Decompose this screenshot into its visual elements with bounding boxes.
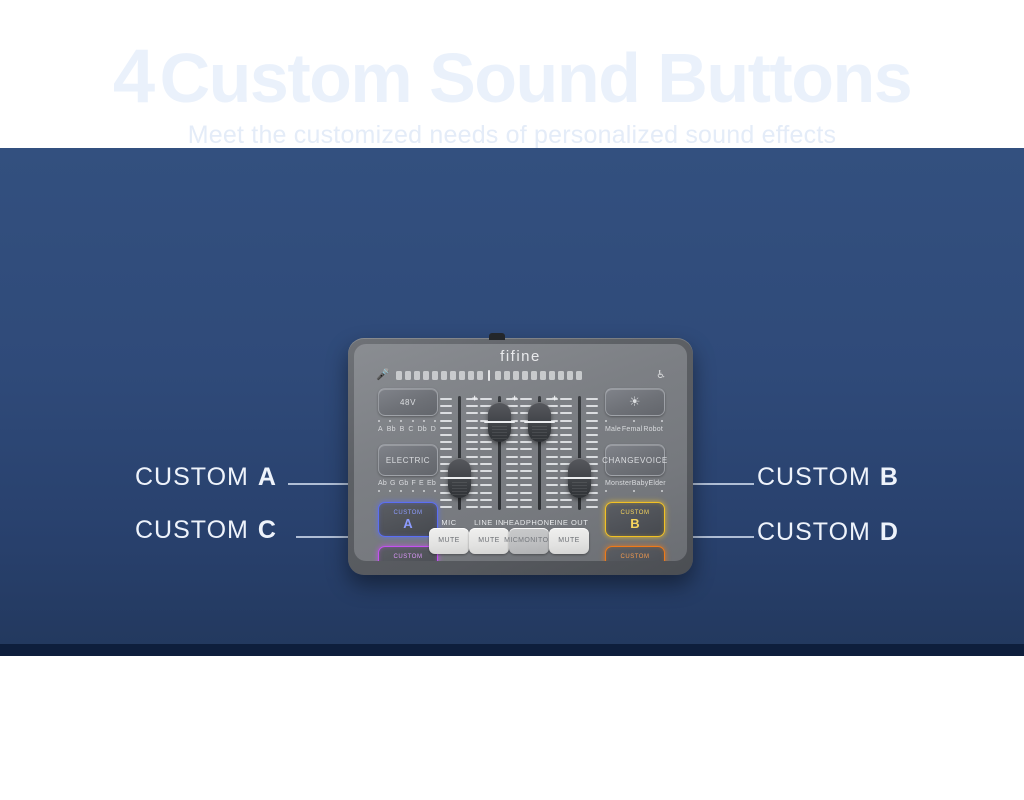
fader-knob[interactable] xyxy=(488,402,511,442)
scale-tick xyxy=(586,441,598,443)
note-label: B xyxy=(400,426,405,433)
scale-tick xyxy=(586,434,598,436)
led-segment xyxy=(396,371,402,380)
scale-tick xyxy=(506,470,518,472)
indicator-dot xyxy=(389,420,391,422)
scale-tick xyxy=(546,456,558,458)
scale-tick xyxy=(480,456,492,458)
scale-tick xyxy=(546,492,558,494)
scale-tick xyxy=(560,405,572,407)
scale-tick xyxy=(560,412,572,414)
scale-tick xyxy=(440,398,452,400)
scale-tick xyxy=(586,506,598,508)
scale-tick xyxy=(546,463,558,465)
led-segment xyxy=(540,371,546,380)
brand-logo: fifine xyxy=(354,348,687,365)
scale-tick xyxy=(560,434,572,436)
knob-ridge xyxy=(572,485,587,486)
microphone-icon: 🎤 xyxy=(376,369,390,381)
fader-knob[interactable] xyxy=(448,458,471,498)
note-label: G xyxy=(390,480,396,487)
scale-tick xyxy=(506,477,518,479)
led-segment xyxy=(459,371,465,380)
custom-letter: A xyxy=(403,517,412,530)
voice-label: Robot xyxy=(643,426,663,433)
knob-ridge xyxy=(492,426,507,427)
fader-knob[interactable] xyxy=(568,458,591,498)
knob-ridge xyxy=(532,429,547,430)
custom-caption: CUSTOM xyxy=(394,510,423,516)
page-subtitle: Meet the customized needs of personalize… xyxy=(0,120,1024,150)
scale-tick xyxy=(466,456,478,458)
scale-tick xyxy=(506,499,518,501)
scale-tick xyxy=(440,412,452,414)
band-bottom-strip xyxy=(0,644,1024,656)
voice-label: Elder xyxy=(648,480,665,487)
usb-port-icon xyxy=(489,333,505,340)
scale-tick xyxy=(520,463,532,465)
scale-tick xyxy=(560,448,572,450)
page-title: 4Custom Sound Buttons xyxy=(0,42,1024,113)
custom-caption: CUSTOM xyxy=(621,554,650,560)
note-dots-top xyxy=(378,420,436,422)
callout-custom-d: CUSTOMD xyxy=(757,518,898,546)
led-segment xyxy=(567,371,573,380)
indicator-dot xyxy=(661,490,663,492)
knob-ridge xyxy=(572,491,587,492)
scale-tick xyxy=(520,398,532,400)
scale-tick xyxy=(466,434,478,436)
voice-label: Monster xyxy=(605,480,632,487)
note-dots-bottom xyxy=(378,490,436,492)
led-segments xyxy=(396,371,644,380)
scale-tick xyxy=(480,398,492,400)
scale-tick xyxy=(546,484,558,486)
callout-prefix: CUSTOM xyxy=(757,463,871,491)
led-segment xyxy=(441,371,447,380)
knob-ridge xyxy=(532,438,547,439)
indicator-dot xyxy=(423,490,425,492)
scale-tick xyxy=(520,484,532,486)
scale-tick xyxy=(546,448,558,450)
voice-label: Femal xyxy=(622,426,642,433)
note-label: C xyxy=(408,426,413,433)
scale-tick xyxy=(440,456,452,458)
knob-ridge xyxy=(532,426,547,427)
knob-ridge xyxy=(492,432,507,433)
headline-number: 4 xyxy=(113,34,154,119)
note-label: D xyxy=(431,426,436,433)
scale-tick xyxy=(506,456,518,458)
callout-letter: B xyxy=(880,463,898,491)
callout-prefix: CUSTOM xyxy=(135,463,249,491)
scale-tick xyxy=(520,499,532,501)
indicator-dot xyxy=(434,420,436,422)
mic-monitor-button[interactable]: MICMONITOR xyxy=(509,528,549,554)
scale-tick xyxy=(440,441,452,443)
scale-tick xyxy=(586,456,598,458)
device-face: fifine 🎤 ♿ 48V ABbBCDbD ELECTRIC AbGGbFE… xyxy=(354,344,687,561)
led-segment xyxy=(522,371,528,380)
scale-tick xyxy=(586,412,598,414)
scale-tick xyxy=(586,405,598,407)
voice-label: Baby xyxy=(632,480,649,487)
indicator-dot xyxy=(434,490,436,492)
custom-caption: CUSTOM xyxy=(621,510,650,516)
knob-ridge xyxy=(572,488,587,489)
scale-tick xyxy=(560,456,572,458)
scale-tick xyxy=(506,484,518,486)
voice-dots-bottom xyxy=(605,490,663,492)
indicator-dot xyxy=(400,420,402,422)
indicator-dot xyxy=(378,420,380,422)
promo-banner: 4Custom Sound Buttons Meet the customize… xyxy=(0,0,1024,800)
scale-tick xyxy=(520,441,532,443)
fader-mic[interactable] xyxy=(440,392,478,514)
headline-text: Custom Sound Buttons xyxy=(160,39,912,117)
knob-ridge xyxy=(492,438,507,439)
knob-ridge xyxy=(532,435,547,436)
fader-line-in[interactable] xyxy=(480,392,518,514)
led-segment xyxy=(432,371,438,380)
scale-tick xyxy=(466,441,478,443)
change-voice-button[interactable]: CHANGE VOICE xyxy=(605,444,665,476)
note-labels-top: ABbBCDbD xyxy=(378,426,436,433)
led-segment xyxy=(558,371,564,380)
scale-tick xyxy=(586,420,598,422)
electric-effect-button[interactable]: ELECTRIC xyxy=(378,444,438,476)
level-meter: 🎤 ♿ xyxy=(376,369,666,381)
scale-tick xyxy=(586,448,598,450)
scale-tick xyxy=(586,499,598,501)
led-segment xyxy=(468,371,474,380)
plus-mark: + xyxy=(472,394,477,403)
note-label: A xyxy=(378,426,383,433)
knob-ridge xyxy=(492,429,507,430)
scale-tick xyxy=(560,506,572,508)
fader-bank xyxy=(440,392,600,514)
brightness-button[interactable]: ☀ xyxy=(605,388,665,416)
scale-tick xyxy=(520,448,532,450)
knob-ridge xyxy=(452,491,467,492)
knob-ridge xyxy=(452,488,467,489)
callout-custom-a: CUSTOMA xyxy=(135,463,276,491)
custom-letter: D xyxy=(630,561,639,562)
scale-tick xyxy=(480,441,492,443)
scale-tick xyxy=(480,470,492,472)
indicator-dot xyxy=(605,420,607,422)
mute-button-line-out[interactable]: MUTE xyxy=(549,528,589,554)
plus-mark: + xyxy=(512,394,517,403)
scale-tick xyxy=(480,484,492,486)
scale-tick xyxy=(520,506,532,508)
scale-tick xyxy=(546,441,558,443)
indicator-dot xyxy=(423,420,425,422)
indicator-dot xyxy=(389,490,391,492)
note-label: Gb xyxy=(399,480,409,487)
indicator-dot xyxy=(661,420,663,422)
led-segment xyxy=(576,371,582,380)
mute-button-line-in[interactable]: MUTE xyxy=(469,528,509,554)
headphone-icon: ♿ xyxy=(656,369,666,381)
led-segment xyxy=(513,371,519,380)
indicator-dot xyxy=(633,420,635,422)
scale-tick xyxy=(466,420,478,422)
callout-prefix: CUSTOM xyxy=(757,518,871,546)
knob-ridge xyxy=(452,485,467,486)
indicator-dot xyxy=(412,490,414,492)
button-line1: MUTE xyxy=(478,537,499,545)
led-center-divider xyxy=(488,370,490,381)
note-label: Ab xyxy=(378,480,387,487)
scale-tick xyxy=(586,427,598,429)
indicator-dot xyxy=(400,490,402,492)
scale-tick xyxy=(440,405,452,407)
callout-letter: D xyxy=(880,518,898,546)
note-label: E xyxy=(419,480,424,487)
mute-button-mic[interactable]: MUTE xyxy=(429,528,469,554)
fader-headphone[interactable] xyxy=(520,392,558,514)
scale-tick xyxy=(466,427,478,429)
scale-tick xyxy=(560,499,572,501)
note-label: Bb xyxy=(387,426,396,433)
scale-tick xyxy=(506,492,518,494)
scale-tick xyxy=(440,420,452,422)
indicator-dot xyxy=(633,490,635,492)
fader-knob[interactable] xyxy=(528,402,551,442)
callout-custom-c: CUSTOMC xyxy=(135,516,276,544)
scale-tick xyxy=(546,499,558,501)
scale-tick xyxy=(440,506,452,508)
scale-tick xyxy=(520,477,532,479)
led-segment xyxy=(549,371,555,380)
callout-custom-b: CUSTOMB xyxy=(757,463,898,491)
scale-tick xyxy=(546,506,558,508)
scale-tick xyxy=(466,412,478,414)
scale-tick xyxy=(480,506,492,508)
indicator-dot xyxy=(378,490,380,492)
plus-mark: + xyxy=(552,394,557,403)
led-segment xyxy=(477,371,483,380)
scale-tick xyxy=(466,405,478,407)
scale-tick xyxy=(480,477,492,479)
callout-prefix: CUSTOM xyxy=(135,516,249,544)
led-segment xyxy=(414,371,420,380)
knob-ridge xyxy=(492,435,507,436)
button-line1: MUTE xyxy=(558,537,579,545)
button-line1: MUTE xyxy=(438,537,459,545)
custom-button-d[interactable]: CUSTOM D xyxy=(605,546,665,561)
change-voice-line1: CHANGE xyxy=(602,456,640,465)
scale-tick xyxy=(440,427,452,429)
led-segment xyxy=(405,371,411,380)
voice-labels-bottom: MonsterBabyElder xyxy=(605,480,663,487)
voice-label: Male xyxy=(605,426,621,433)
note-label: Db xyxy=(417,426,426,433)
led-segment xyxy=(504,371,510,380)
scale-tick xyxy=(480,499,492,501)
scale-tick xyxy=(586,398,598,400)
led-segment xyxy=(495,371,501,380)
change-voice-line2: VOICE xyxy=(640,456,668,465)
custom-letter: B xyxy=(630,517,639,530)
scale-tick xyxy=(560,427,572,429)
scale-tick xyxy=(466,499,478,501)
scale-tick xyxy=(560,441,572,443)
indicator-dot xyxy=(605,490,607,492)
led-segment xyxy=(450,371,456,380)
scale-tick xyxy=(506,441,518,443)
scale-tick xyxy=(440,448,452,450)
scale-tick xyxy=(506,448,518,450)
led-segment xyxy=(531,371,537,380)
scale-tick xyxy=(546,477,558,479)
audio-mixer-device: fifine 🎤 ♿ 48V ABbBCDbD ELECTRIC AbGGbFE… xyxy=(348,338,693,575)
led-segment xyxy=(423,371,429,380)
phantom-power-button[interactable]: 48V xyxy=(378,388,438,416)
button-line1: MIC xyxy=(504,537,518,545)
scale-tick xyxy=(466,448,478,450)
voice-dots-top xyxy=(605,420,663,422)
scale-tick xyxy=(440,434,452,436)
custom-button-b[interactable]: CUSTOM B xyxy=(605,502,665,537)
knob-ridge xyxy=(452,482,467,483)
scale-tick xyxy=(520,470,532,472)
scale-tick xyxy=(440,499,452,501)
fader-line-out[interactable] xyxy=(560,392,598,514)
fader-label: LINE OUT xyxy=(539,518,599,527)
callout-letter: A xyxy=(258,463,276,491)
scale-tick xyxy=(480,492,492,494)
scale-tick xyxy=(560,398,572,400)
custom-letter: C xyxy=(403,561,412,562)
scale-tick xyxy=(480,448,492,450)
note-label: F xyxy=(412,480,416,487)
knob-ridge xyxy=(572,482,587,483)
knob-ridge xyxy=(532,432,547,433)
scale-tick xyxy=(520,492,532,494)
scale-tick xyxy=(506,506,518,508)
custom-caption: CUSTOM xyxy=(394,554,423,560)
scale-tick xyxy=(546,470,558,472)
scale-tick xyxy=(466,506,478,508)
callout-letter: C xyxy=(258,516,276,544)
voice-labels-top: MaleFemalRobot xyxy=(605,426,663,433)
scale-tick xyxy=(520,456,532,458)
knob-ridge xyxy=(452,494,467,495)
note-label: Eb xyxy=(427,480,436,487)
scale-tick xyxy=(560,420,572,422)
note-labels-bottom: AbGGbFEEb xyxy=(378,480,436,487)
scale-tick xyxy=(506,463,518,465)
indicator-dot xyxy=(412,420,414,422)
knob-ridge xyxy=(572,494,587,495)
scale-tick xyxy=(480,463,492,465)
